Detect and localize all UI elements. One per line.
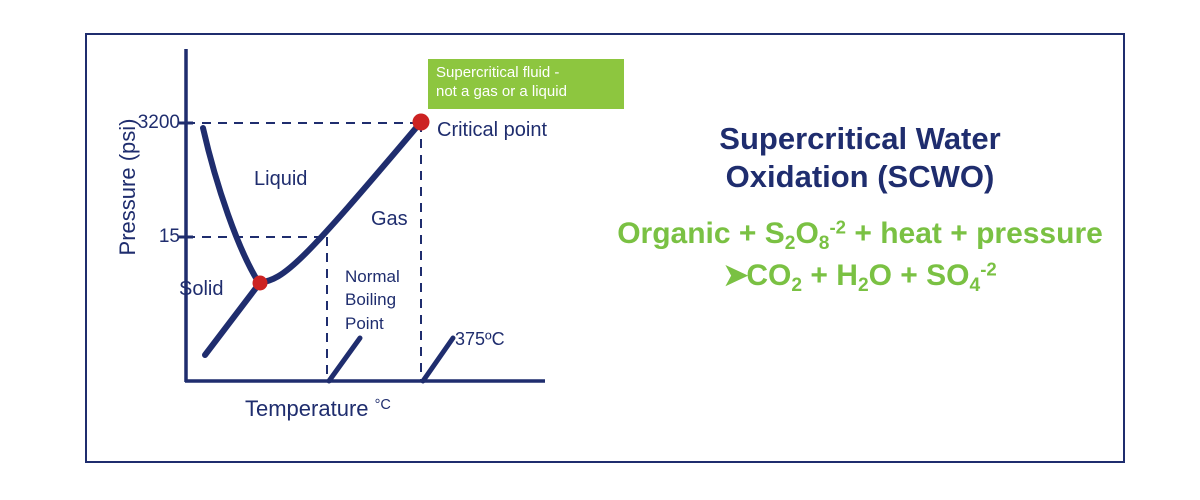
equation-plus-1: + [802,259,836,292]
supercritical-fluid-callout: Supercritical fluid - not a gas or a liq… [428,59,624,109]
annotation-normal-boiling-point: Normal Boiling Point [345,265,400,335]
equation-persulfate-charge: -2 [829,216,846,237]
region-label-liquid: Liquid [254,168,307,192]
equation-co2: CO [746,259,791,292]
region-label-solid: Solid [179,278,223,302]
scwo-equation: Organic + S2O8-2 + heat + pressure ➤CO2 … [560,216,1160,298]
equation-persulfate-s: S [765,217,785,250]
equation-co2-sub: 2 [791,275,802,296]
y-axis-title: Pressure (psi) [115,57,141,317]
annotation-critical-point: Critical point [437,119,547,143]
equation-products-line: ➤CO2 + H2O + SO4-2 [560,257,1160,298]
fusion-curve [203,128,259,283]
scwo-title-line-1: Supercritical Water [560,120,1160,158]
right-arrow-icon: ➤ [723,259,746,292]
region-label-gas: Gas [371,208,408,232]
equation-persulfate-o: O [795,217,818,250]
leader-line-375c [423,338,453,381]
equation-plus-2: + [892,259,926,292]
equation-so4-sub: 4 [970,275,981,296]
x-axis-title: Temperature °C [245,396,391,422]
degree-celsius-unit: °C [375,397,391,413]
equation-h2o-h: H [836,259,858,292]
x-axis-title-text: Temperature [245,396,375,421]
scwo-info-panel: Supercritical Water Oxidation (SCWO) Org… [560,120,1160,298]
equation-reactants-line: Organic + S2O8-2 + heat + pressure [560,216,1160,255]
scwo-title-line-2: Oxidation (SCWO) [560,158,1160,196]
equation-persulfate-sub-2: 2 [785,233,796,254]
critical-point-marker [413,114,430,131]
equation-h2o-o: O [869,259,892,292]
annotation-critical-temperature: 375ºC [455,329,505,350]
equation-organic: Organic + [617,217,765,250]
phase-diagram-chart: 3200 15 Liquid Gas Solid Normal Boiling … [0,0,600,500]
triple-point-marker [253,276,268,291]
scwo-title: Supercritical Water Oxidation (SCWO) [560,120,1160,196]
callout-line-1: Supercritical fluid - [436,64,616,83]
equation-persulfate-sub-8: 8 [819,233,830,254]
vaporization-curve [259,122,421,283]
equation-h2o-sub: 2 [858,275,869,296]
equation-so4-charge: -2 [980,258,997,279]
figure-root: 3200 15 Liquid Gas Solid Normal Boiling … [0,0,1200,500]
callout-line-2: not a gas or a liquid [436,83,616,102]
equation-reactant-tail: + heat + pressure [846,217,1103,250]
equation-so4: SO [926,259,969,292]
leader-line-normal-boiling-point [329,338,360,381]
